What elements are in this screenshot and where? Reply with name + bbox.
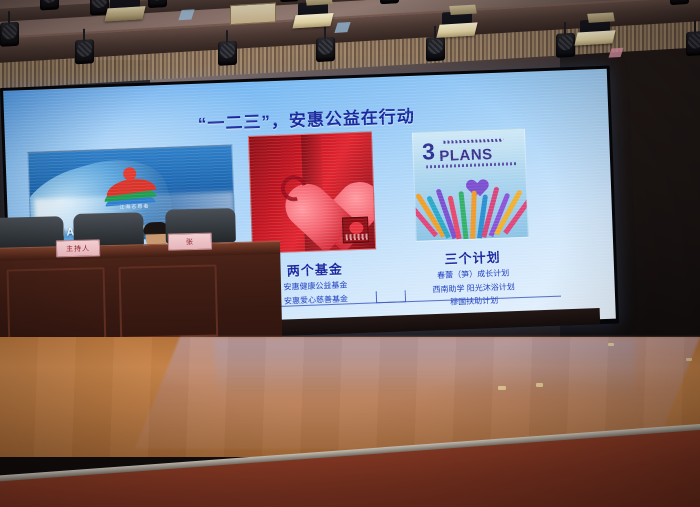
rig-paper-panel <box>230 2 276 25</box>
slide-column-plans: 3 PLANS <box>393 127 547 242</box>
par-can-light <box>75 39 94 64</box>
par-can-light <box>218 41 237 66</box>
placard-label: 张 <box>186 237 194 247</box>
name-placard-speaker: 张 <box>168 233 212 251</box>
three-plans-hands-poster: 3 PLANS <box>411 128 528 242</box>
poster-number-three: 3 <box>422 140 436 163</box>
volunteer-figure-logo-icon: 江海志愿者 <box>103 166 161 212</box>
par-can-light <box>40 0 59 10</box>
par-can-light <box>380 0 399 4</box>
par-can-light <box>316 37 335 62</box>
fresnel-light <box>580 19 610 41</box>
caption-block-plans: 三个计划 春蕾（笋）成长计划 西南助学 阳光沐浴计划 穆国扶助计划 <box>389 245 557 311</box>
pink-gel-frame <box>609 48 624 58</box>
charity-badge-logo-icon <box>342 217 369 244</box>
auditorium-stage-photo: “一二三”，安惠公益在行动 江海志愿者 JIAN <box>0 0 700 507</box>
dais-wood-inset <box>118 264 218 338</box>
placard-label: 主持人 <box>66 243 90 254</box>
fresnel-light <box>110 0 140 16</box>
par-can-light <box>556 33 575 58</box>
fresnel-light <box>442 11 472 33</box>
fresnel-light <box>298 1 328 23</box>
floor-debris <box>536 383 543 387</box>
hand-graphic <box>470 191 477 239</box>
slide-column-funds <box>248 131 376 253</box>
name-placard-host: 主持人 <box>56 239 100 257</box>
floor-debris <box>498 386 506 390</box>
red-heart-charity-poster <box>248 131 376 253</box>
par-can-light <box>148 0 167 8</box>
floor-debris <box>608 343 614 346</box>
par-can-light <box>0 22 19 47</box>
par-can-light <box>686 31 700 56</box>
poster-dotted-line <box>443 139 503 144</box>
poster-plans-word: PLANS <box>439 146 493 165</box>
floor-debris <box>686 358 692 361</box>
par-can-light <box>426 36 445 61</box>
logo-caption-cn: 江海志愿者 <box>112 202 156 211</box>
purple-heart-icon <box>461 172 482 191</box>
blue-gel-frame <box>178 9 194 20</box>
dais-wood-inset <box>7 267 107 341</box>
